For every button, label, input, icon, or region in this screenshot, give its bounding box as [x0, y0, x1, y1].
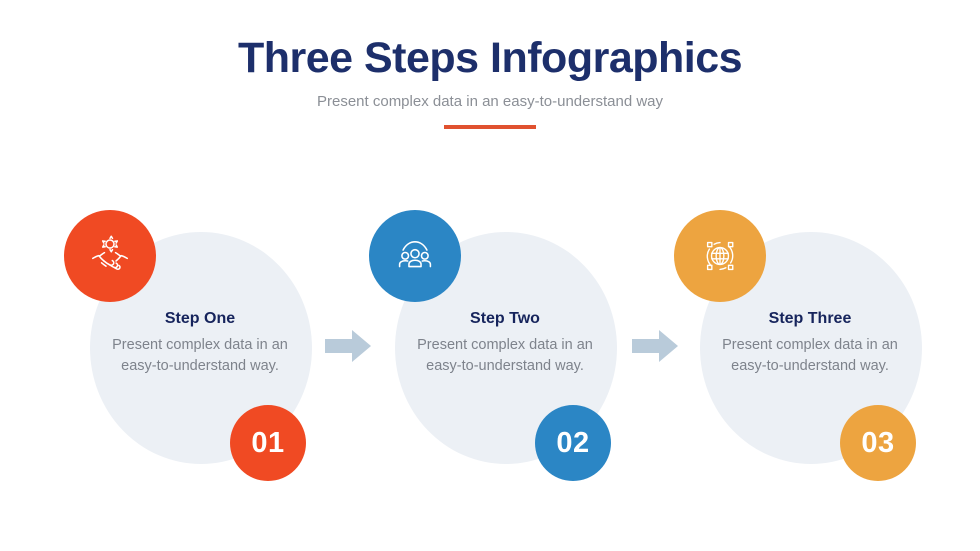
step-card-one[interactable]: Step One Present complex data in an easy… [35, 200, 340, 490]
arrow-right-icon-one [325, 330, 371, 362]
page-title: Three Steps Infographics [0, 36, 980, 81]
step-card-two[interactable]: Step Two Present complex data in an easy… [340, 200, 645, 490]
step-icon-circle-two[interactable] [369, 210, 461, 302]
step-number-badge[interactable]: 03 [840, 405, 916, 481]
step-icon-circle-three[interactable] [674, 210, 766, 302]
step-title: Step Two [385, 310, 625, 328]
step-title: Step One [80, 310, 320, 328]
accent-underline [444, 125, 536, 129]
header: Three Steps Infographics Present complex… [0, 36, 980, 129]
people-group-icon [393, 234, 437, 278]
handshake-gear-icon [87, 233, 133, 279]
page-subtitle: Present complex data in an easy-to-under… [0, 93, 980, 111]
step-icon-circle-one[interactable] [64, 210, 156, 302]
step-text-block-one: Step One Present complex data in an easy… [80, 310, 320, 376]
step-description: Present complex data in an easy-to-under… [385, 335, 625, 376]
step-description: Present complex data in an easy-to-under… [80, 335, 320, 376]
step-text-block-three: Step Three Present complex data in an ea… [690, 310, 930, 376]
infographic-slide: Three Steps Infographics Present complex… [0, 0, 980, 551]
arrow-right-icon-two [632, 330, 678, 362]
step-number-badge[interactable]: 02 [535, 405, 611, 481]
step-card-three[interactable]: Step Three Present complex data in an ea… [645, 200, 950, 490]
step-title: Step Three [690, 310, 930, 328]
steps-container: Step One Present complex data in an easy… [0, 200, 980, 500]
step-number-badge[interactable]: 01 [230, 405, 306, 481]
globe-network-icon [698, 234, 742, 278]
step-description: Present complex data in an easy-to-under… [690, 335, 930, 376]
step-text-block-two: Step Two Present complex data in an easy… [385, 310, 625, 376]
